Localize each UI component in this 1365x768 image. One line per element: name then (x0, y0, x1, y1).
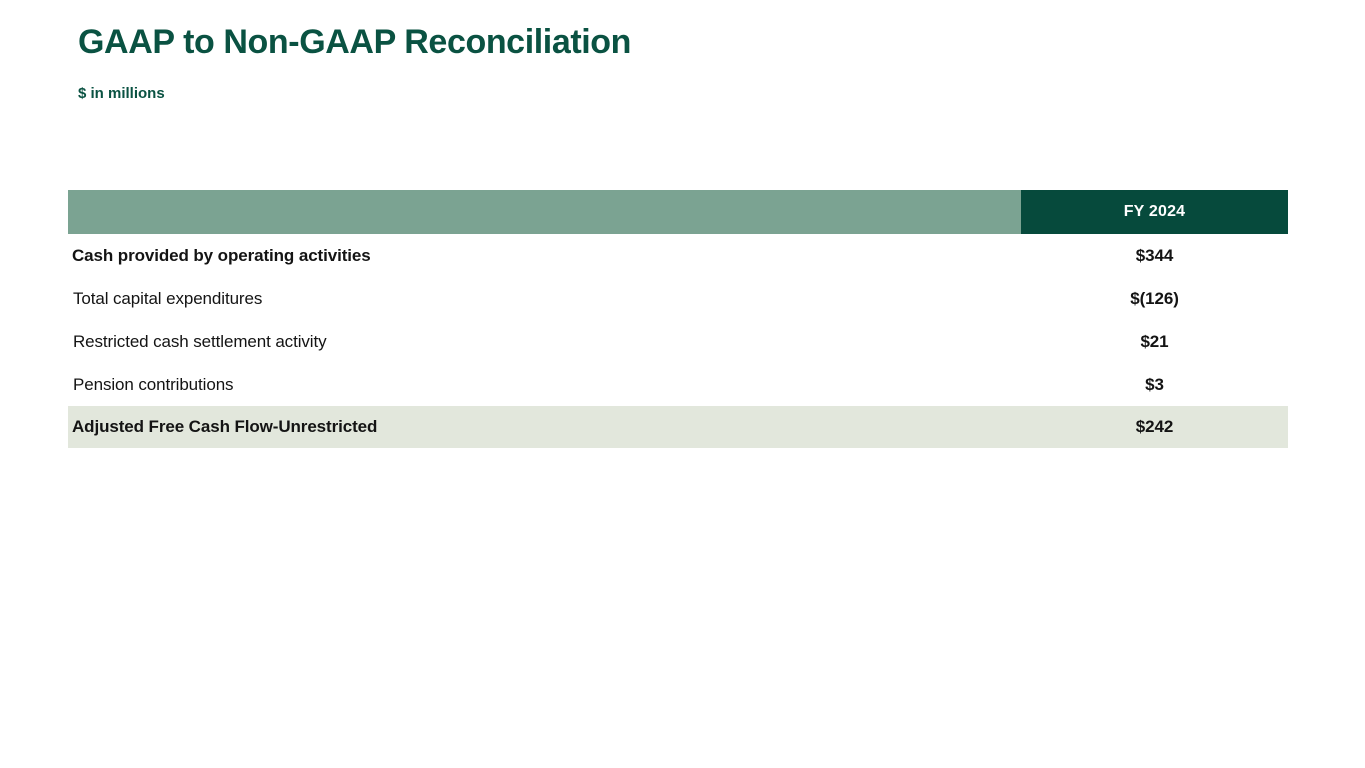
page-title: GAAP to Non-GAAP Reconciliation (78, 20, 1178, 64)
row-value: $(126) (1021, 277, 1288, 320)
column-header-label (68, 190, 1021, 234)
table-row-total: Adjusted Free Cash Flow-Unrestricted $24… (68, 406, 1288, 448)
slide-canvas: GAAP to Non-GAAP Reconciliation $ in mil… (0, 0, 1365, 768)
reconciliation-table: FY 2024 Cash provided by operating activ… (68, 190, 1288, 448)
row-value: $3 (1021, 363, 1288, 406)
table-row: Pension contributions $3 (68, 363, 1288, 406)
row-value: $21 (1021, 320, 1288, 363)
table-row: Cash provided by operating activities $3… (68, 234, 1288, 277)
row-label: Adjusted Free Cash Flow-Unrestricted (68, 406, 1021, 448)
column-header-fy2024: FY 2024 (1021, 190, 1288, 234)
table-header-row: FY 2024 (68, 190, 1288, 234)
title-block: GAAP to Non-GAAP Reconciliation $ in mil… (78, 20, 1178, 104)
table-body: Cash provided by operating activities $3… (68, 234, 1288, 448)
table-row: Restricted cash settlement activity $21 (68, 320, 1288, 363)
row-value: $242 (1021, 406, 1288, 448)
row-label: Total capital expenditures (68, 277, 1021, 320)
table-grid: FY 2024 Cash provided by operating activ… (68, 190, 1288, 448)
table-header: FY 2024 (68, 190, 1288, 234)
row-label: Restricted cash settlement activity (68, 320, 1021, 363)
table-row: Total capital expenditures $(126) (68, 277, 1288, 320)
row-label: Cash provided by operating activities (68, 234, 1021, 277)
row-value: $344 (1021, 234, 1288, 277)
row-label: Pension contributions (68, 363, 1021, 406)
page-subtitle: $ in millions (78, 84, 1178, 104)
